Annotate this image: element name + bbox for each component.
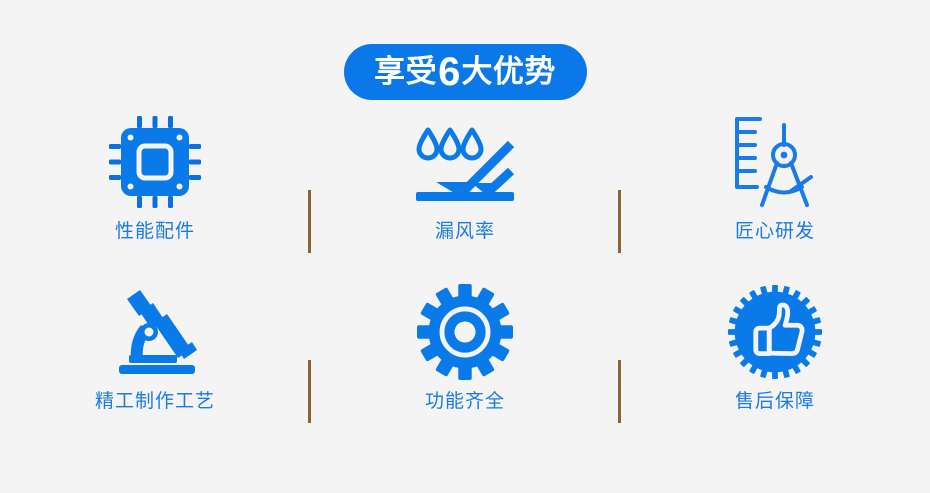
feature-label-craftsman-rnd: 匠心研发 <box>735 222 815 241</box>
feature-label-precision-craftsmanship: 精工制作工艺 <box>95 392 215 411</box>
feature-label-air-leakage-rate: 漏风率 <box>435 222 495 241</box>
feature-item-air-leakage-rate[interactable]: 漏风率 <box>310 112 620 282</box>
feature-label-after-sales-guarantee: 售后保障 <box>735 392 815 411</box>
title-badge-container: 享受 6 大优势 <box>0 44 930 100</box>
feature-item-craftsman-rnd[interactable]: 匠心研发 <box>620 112 930 282</box>
thumbs-up-badge-icon <box>727 282 823 382</box>
features-grid: 性能配件 <box>0 112 930 452</box>
feature-label-full-functionality: 功能齐全 <box>425 392 505 411</box>
badge-prefix-text: 享受 <box>374 57 437 88</box>
badge-suffix-text: 大优势 <box>461 57 556 88</box>
microscope-icon <box>107 282 203 382</box>
badge-number: 6 <box>437 52 461 92</box>
ruler-compass-icon <box>729 112 821 212</box>
feature-label-performance-parts: 性能配件 <box>115 222 195 241</box>
title-badge: 享受 6 大优势 <box>344 44 587 100</box>
gear-icon <box>417 282 513 382</box>
water-repellent-icon <box>412 112 518 212</box>
feature-item-performance-parts[interactable]: 性能配件 <box>0 112 310 282</box>
feature-item-precision-craftsmanship[interactable]: 精工制作工艺 <box>0 282 310 452</box>
cpu-chip-icon <box>107 112 203 212</box>
feature-item-full-functionality[interactable]: 功能齐全 <box>310 282 620 452</box>
feature-item-after-sales-guarantee[interactable]: 售后保障 <box>620 282 930 452</box>
